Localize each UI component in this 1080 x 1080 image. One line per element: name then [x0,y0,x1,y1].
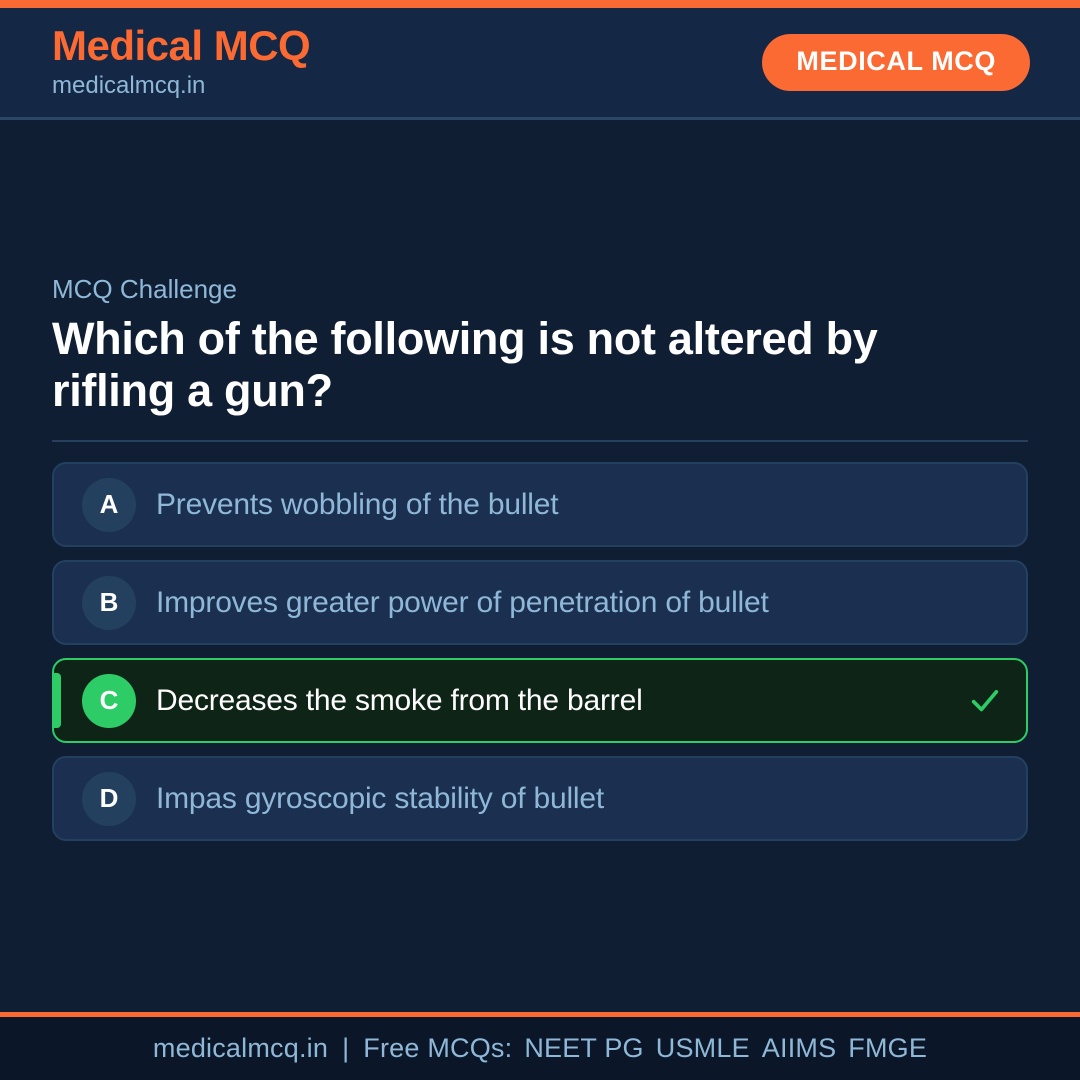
brand-subtitle: medicalmcq.in [52,71,310,101]
option-text: Decreases the smoke from the barrel [156,684,643,718]
kicker-label: MCQ Challenge [52,273,1028,307]
footer-separator: | [328,1033,363,1063]
header-badge: MEDICAL MCQ [762,34,1030,91]
page-header: Medical MCQ medicalmcq.in MEDICAL MCQ [0,8,1080,120]
option-letter-badge: D [82,772,136,826]
footer-text: medicalmcq.in|Free MCQs:NEET PGUSMLEAIIM… [153,1033,927,1064]
brand: Medical MCQ medicalmcq.in [52,24,310,101]
option-text: Impas gyroscopic stability of bullet [156,782,604,816]
page-footer: medicalmcq.in|Free MCQs:NEET PGUSMLEAIIM… [0,1012,1080,1080]
option-c[interactable]: CDecreases the smoke from the barrel [52,658,1028,743]
question-text: Which of the following is not altered by… [52,313,952,417]
option-b[interactable]: BImproves greater power of penetration o… [52,560,1028,645]
option-a[interactable]: APrevents wobbling of the bullet [52,462,1028,547]
checkmark-icon [968,684,1002,718]
option-letter-badge: B [82,576,136,630]
top-accent-bar [0,0,1080,8]
options-list: APrevents wobbling of the bulletBImprove… [52,462,1028,841]
option-text: Improves greater power of penetration of… [156,586,769,620]
option-letter-badge: A [82,478,136,532]
footer-exam-aiims[interactable]: AIIMS [750,1033,837,1063]
question-divider [52,440,1028,442]
footer-exams: NEET PGUSMLEAIIMSFMGE [512,1033,927,1063]
option-d[interactable]: DImpas gyroscopic stability of bullet [52,756,1028,841]
main-content: MCQ Challenge Which of the following is … [0,120,1080,1012]
brand-title: Medical MCQ [52,24,310,69]
question-block: MCQ Challenge Which of the following is … [52,273,1028,841]
option-letter-badge: C [82,674,136,728]
footer-site[interactable]: medicalmcq.in [153,1033,328,1063]
footer-exam-neet-pg[interactable]: NEET PG [512,1033,643,1063]
option-text: Prevents wobbling of the bullet [156,488,558,522]
footer-exams-label: Free MCQs: [363,1033,512,1063]
footer-exam-usmle[interactable]: USMLE [644,1033,750,1063]
footer-exam-fmge[interactable]: FMGE [836,1033,927,1063]
correct-accent-bar [54,673,61,728]
